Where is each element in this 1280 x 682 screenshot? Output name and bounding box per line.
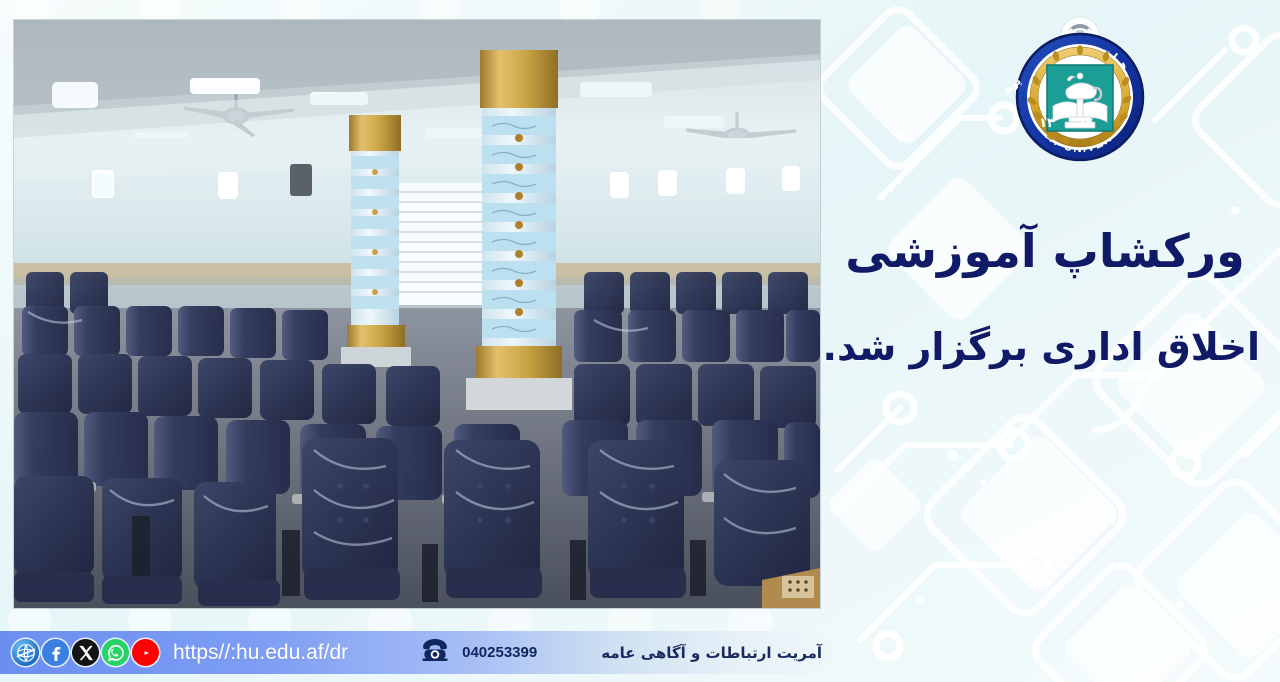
logo-year-right: ٦٧ [1077, 116, 1093, 131]
youtube-icon[interactable] [132, 639, 159, 666]
phone-group: 040253399 [420, 637, 537, 668]
phone-number-text: 040253399 [462, 644, 537, 661]
poster-canvas: پوهنتون هرات HERAT UNIVERSITY [0, 0, 1280, 682]
logo-year-left: ١٣ [1039, 116, 1055, 131]
department-name-text: آمریت ارتباطات و آگاهی عامه [601, 644, 822, 662]
headline-line-2: اخلاق اداری برگزار شد. [830, 323, 1260, 372]
website-url-text[interactable]: https//:hu.edu.af/dr [173, 641, 348, 665]
facebook-icon[interactable] [42, 639, 69, 666]
herat-university-logo: پوهنتون هرات HERAT UNIVERSITY [1005, 14, 1155, 166]
headline-line-1: ورکشاپ آموزشی [830, 222, 1260, 281]
website-globe-icon[interactable] [12, 639, 39, 666]
telephone-icon [420, 637, 450, 668]
event-photo [14, 20, 820, 608]
social-icon-row [12, 639, 159, 666]
headline-block: ورکشاپ آموزشی اخلاق اداری برگزار شد. [830, 222, 1260, 372]
whatsapp-icon[interactable] [102, 639, 129, 666]
x-twitter-icon[interactable] [72, 639, 99, 666]
contact-bar: https//:hu.edu.af/dr 040253399 آمریت ارت… [0, 631, 832, 674]
